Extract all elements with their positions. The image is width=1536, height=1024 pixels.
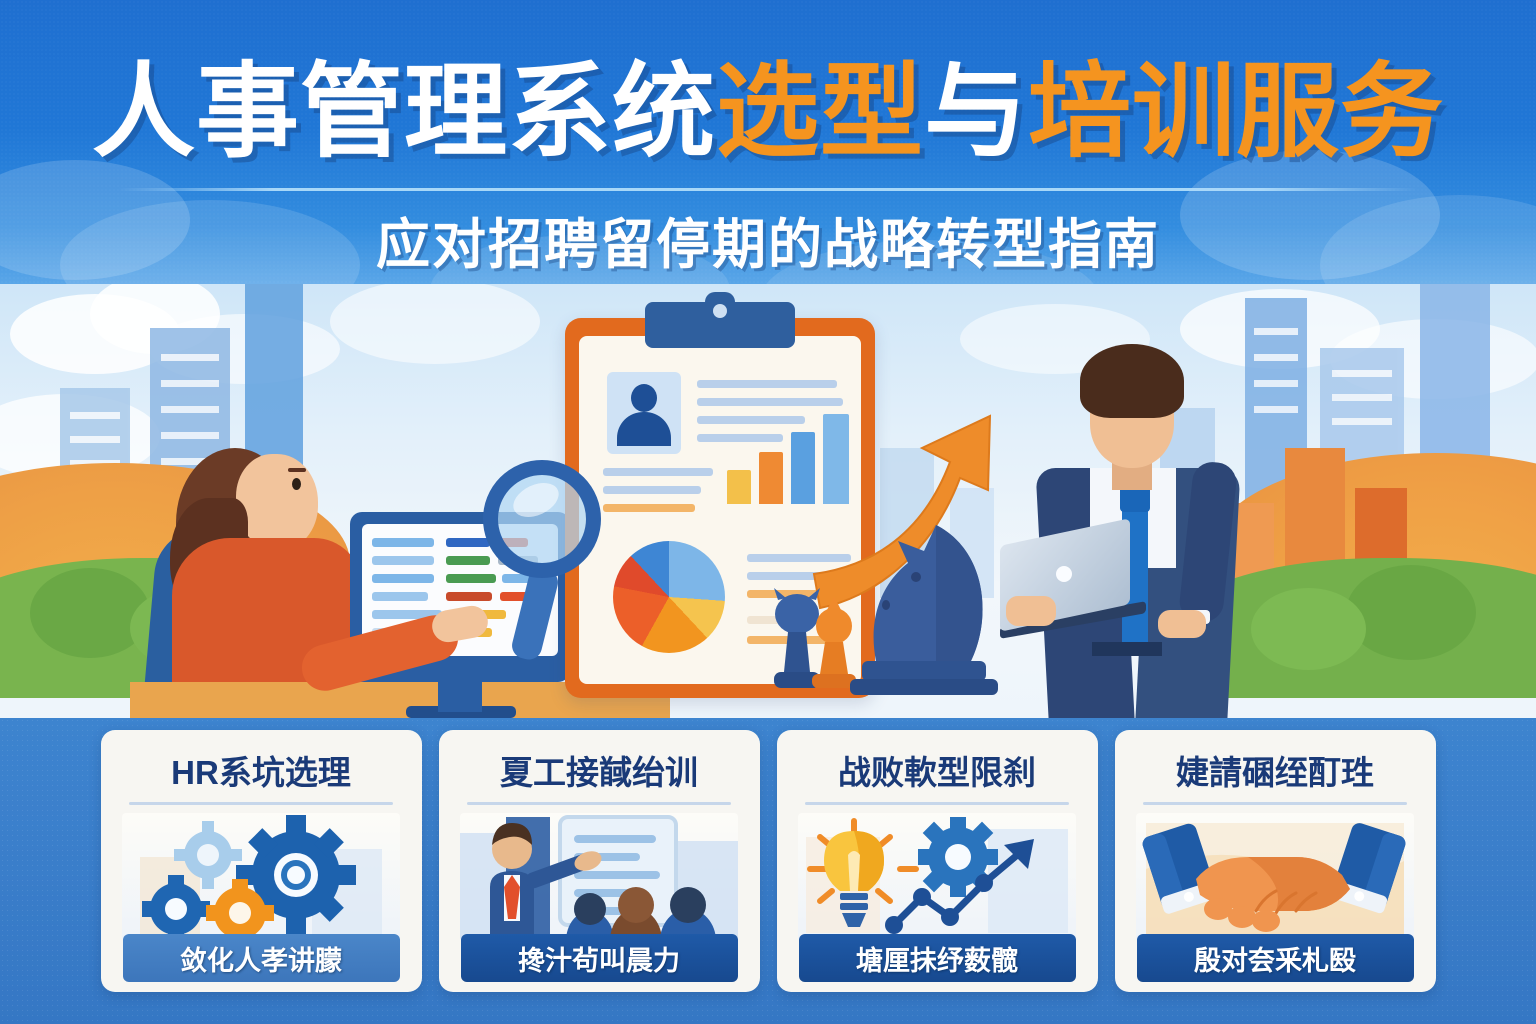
- hero-illustration: [0, 284, 1536, 718]
- monitor-stand: [438, 678, 482, 712]
- card-title: 婕請碅绖酊珄: [1176, 746, 1374, 794]
- woman-eyebrow: [288, 468, 306, 472]
- page-subtitle: 应对招聘留停期的战略转型指南: [0, 200, 1536, 279]
- lightbulb-gear-chart-icon: [798, 813, 1076, 941]
- gears-icon: [122, 813, 400, 941]
- feature-card-employee-training[interactable]: 夏工接馘绐训: [439, 730, 760, 992]
- cloud: [330, 284, 540, 364]
- card-footer-label: 敛化人孝讲朦: [123, 934, 400, 982]
- page-title: 人事管理系统选型与培训服务: [0, 58, 1536, 166]
- poster: 人事管理系统选型与培训服务 应对招聘留停期的战略转型指南: [0, 0, 1536, 1024]
- feature-card-hr-system-selection[interactable]: HR系坑选理: [101, 730, 422, 992]
- man-hand-right: [1158, 610, 1206, 638]
- card-title: 夏工接馘绐训: [500, 746, 698, 794]
- training-presentation-icon: [460, 813, 738, 941]
- title-divider: [118, 188, 1418, 191]
- tree: [1346, 565, 1476, 660]
- title-part-1: 人事管理系统: [92, 54, 716, 169]
- card-divider: [467, 802, 731, 805]
- man-hair: [1080, 344, 1184, 418]
- handshake-icon: [1136, 813, 1414, 941]
- card-title: 战败軟型限刹: [838, 746, 1036, 794]
- card-footer-label: 殷对夽釆札殹: [1137, 934, 1414, 982]
- tree: [30, 568, 150, 658]
- pie-chart: [613, 541, 725, 653]
- feature-card-strip: HR系坑选理: [0, 718, 1536, 1024]
- feature-cards: HR系坑选理: [0, 730, 1536, 992]
- tree: [1251, 588, 1366, 670]
- card-footer-label: 塘厘抺纾薮髋: [799, 934, 1076, 982]
- card-divider: [129, 802, 393, 805]
- card-footer-label: 搀汁茍叫晨力: [461, 934, 738, 982]
- title-part-3: 与: [924, 54, 1028, 169]
- laptop-logo: [1056, 566, 1072, 582]
- feature-card-strategy-transformation[interactable]: 战败軟型限刹: [777, 730, 1098, 992]
- card-divider: [1143, 802, 1407, 805]
- bar: [759, 452, 783, 504]
- header-banner: 人事管理系统选型与培训服务 应对招聘留停期的战略转型指南: [0, 0, 1536, 284]
- title-part-2: 选型: [716, 54, 924, 169]
- woman-eye: [292, 478, 301, 490]
- title-part-4: 培训服务: [1028, 54, 1444, 169]
- man-hand-left: [1006, 596, 1056, 626]
- card-divider: [805, 802, 1069, 805]
- card-title: HR系坑选理: [171, 746, 351, 794]
- chess-knight-icon: [840, 511, 1010, 696]
- magnifier-icon: [483, 460, 601, 578]
- avatar: [607, 372, 681, 454]
- clipboard-hole: [713, 304, 727, 318]
- feature-card-partnership[interactable]: 婕請碅绖酊珄: [1115, 730, 1436, 992]
- bar: [727, 470, 751, 504]
- man-belt: [1092, 642, 1162, 656]
